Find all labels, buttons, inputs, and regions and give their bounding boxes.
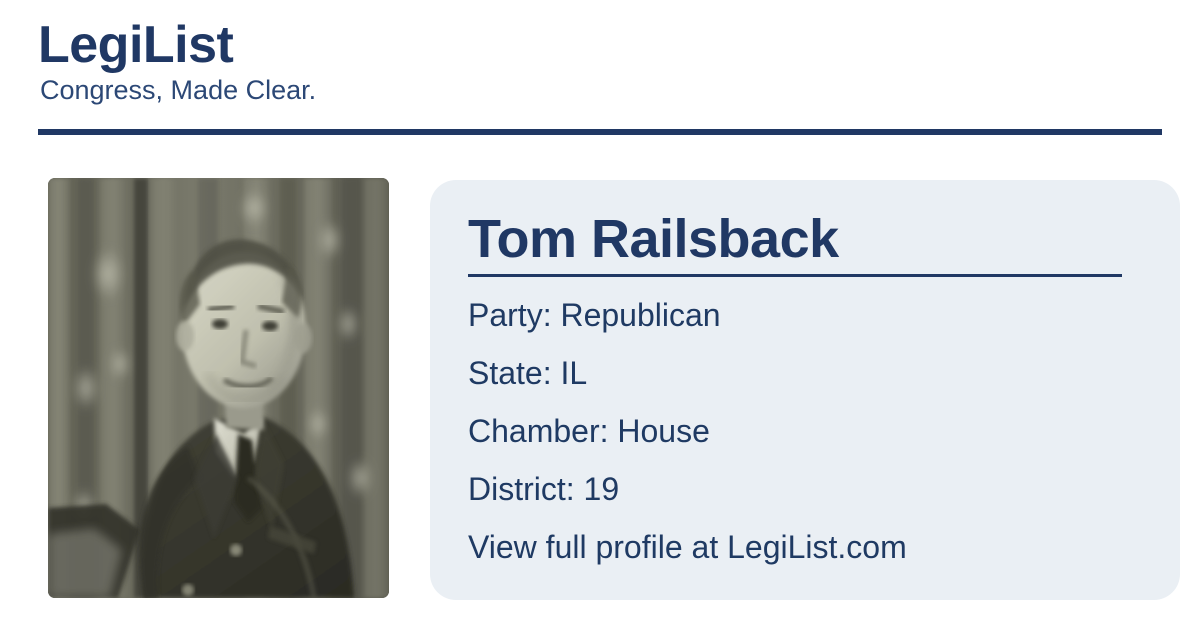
member-info-card: Tom Railsback Party: Republican State: I… xyxy=(430,180,1180,600)
view-full-profile-label: View full profile at LegiList.com xyxy=(468,529,907,565)
detail-label-chamber: Chamber: xyxy=(468,413,617,449)
brand-title: LegiList xyxy=(38,18,1162,73)
brand-tagline: Congress, Made Clear. xyxy=(40,75,1162,106)
detail-label-district: District: xyxy=(468,471,584,507)
detail-value-state: IL xyxy=(561,355,588,391)
view-full-profile-link[interactable]: View full profile at LegiList.com xyxy=(468,531,1122,563)
detail-label-party: Party: xyxy=(468,297,560,333)
detail-label-state: State: xyxy=(468,355,561,391)
detail-row-district: District: 19 xyxy=(468,473,1122,505)
portrait-illustration xyxy=(48,178,389,598)
detail-value-party: Republican xyxy=(560,297,720,333)
detail-row-state: State: IL xyxy=(468,357,1122,389)
detail-value-chamber: House xyxy=(617,413,710,449)
member-name-underline xyxy=(468,274,1122,277)
detail-row-chamber: Chamber: House xyxy=(468,415,1122,447)
detail-value-district: 19 xyxy=(584,471,620,507)
header-divider xyxy=(38,129,1162,135)
member-details-list: Party: Republican State: IL Chamber: Hou… xyxy=(468,299,1122,563)
member-name: Tom Railsback xyxy=(468,210,1122,268)
site-header: LegiList Congress, Made Clear. xyxy=(38,18,1162,106)
share-card-canvas: LegiList Congress, Made Clear. xyxy=(0,0,1200,630)
member-portrait-photo xyxy=(48,178,389,598)
detail-row-party: Party: Republican xyxy=(468,299,1122,331)
